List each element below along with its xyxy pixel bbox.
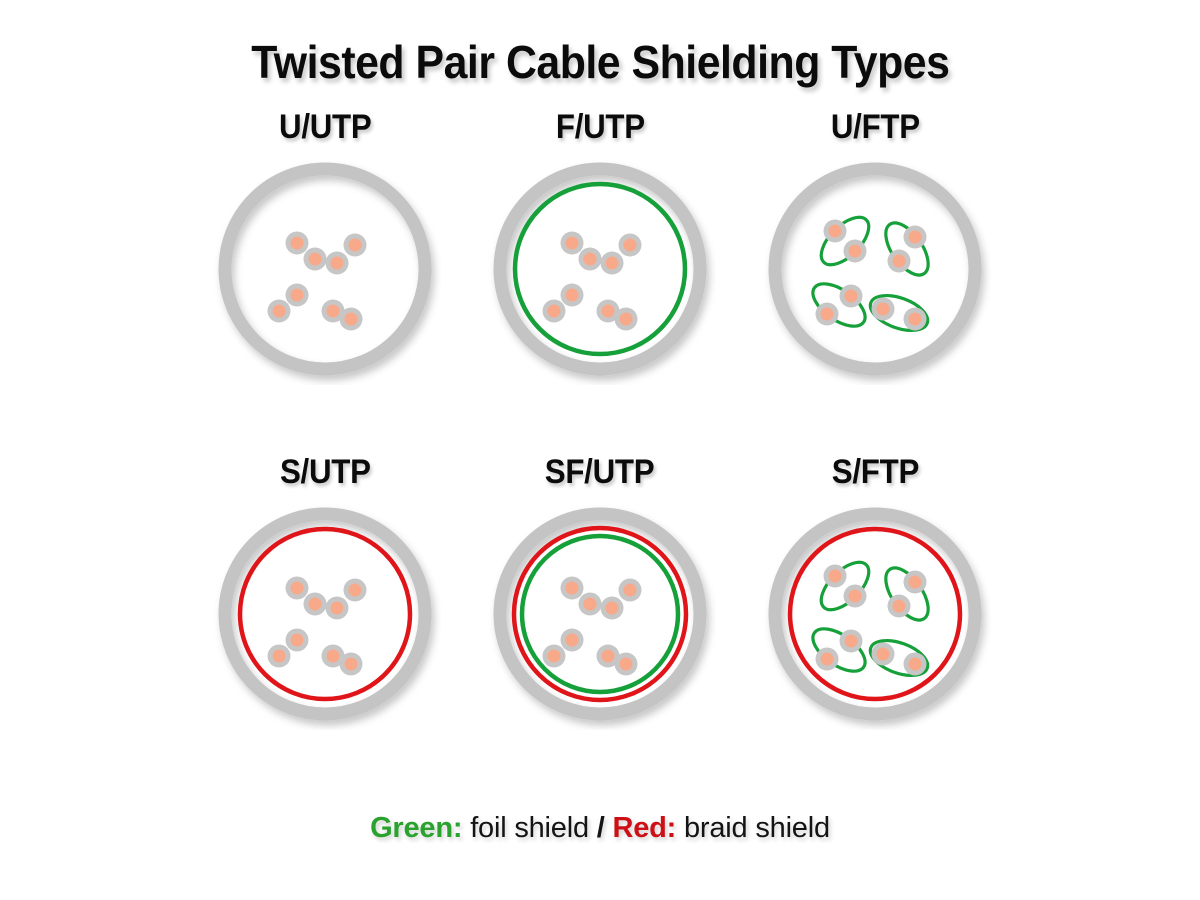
twisted-pair [561,577,602,616]
conductor-core [349,239,362,252]
conductor-core [606,257,619,270]
conductor-core [309,253,322,266]
conductor-core [909,313,922,326]
conductor [579,248,602,271]
conductor [601,597,624,620]
twisted-pair [878,561,937,627]
conductor [286,577,309,600]
legend: Green: foil shield / Red: braid shield [370,812,830,845]
conductor-core [309,598,322,611]
conductor [579,593,602,616]
conductor [904,571,927,594]
overall-braid-shield [790,529,960,699]
conductor-core [909,231,922,244]
cable-jacket [775,169,975,369]
conductor [326,252,349,275]
conductor [619,579,642,602]
twisted-pair [543,284,584,323]
conductor [340,653,363,676]
cable-jacket [500,169,700,369]
conductor-core [349,584,362,597]
twisted-pair [806,621,872,680]
conductor [816,303,839,326]
twisted-pair [268,284,309,323]
cable-jacket [225,514,425,714]
conductor-core [566,289,579,302]
conductor [824,220,847,243]
conductor-core [877,648,890,661]
conductor [904,226,927,249]
twisted-pair [268,629,309,668]
conductor [561,629,584,652]
pair-foil-shield [806,276,872,335]
twisted-pair [326,234,367,275]
conductor-core [829,225,842,238]
conductor [344,234,367,257]
overall-braid-shield [240,529,410,699]
conductor-core [566,237,579,250]
conductor [816,648,839,671]
cable-cell-s-utp: S/UTP [188,453,463,798]
conductor-core [566,582,579,595]
conductor-core [877,303,890,316]
poster: Twisted Pair Cable Shielding Types U/UTP… [0,0,1200,900]
twisted-pair [597,300,638,331]
cable-cell-s-ftp: S/FTP [738,453,1013,798]
conductor-core [291,634,304,647]
cable-jacket [775,514,975,714]
conductor-core [291,582,304,595]
cable-jacket [225,169,425,369]
conductor [840,285,863,308]
cable-cross-section-u-utp [209,153,441,385]
cable-cross-section-s-utp [209,498,441,730]
conductor [326,597,349,620]
twisted-pair [322,300,363,331]
twisted-pair [601,234,642,275]
conductor-core [331,602,344,615]
cable-label-s-ftp: S/FTP [831,453,918,492]
twisted-pair [561,232,602,271]
conductor [543,300,566,323]
twisted-pair [543,629,584,668]
conductor [268,645,291,668]
conductor-core [845,635,858,648]
conductor [286,629,309,652]
conductor-core [327,650,340,663]
pair-foil-shield [878,216,937,282]
cable-cell-u-ftp: U/FTP [738,108,1013,453]
cable-cross-section-s-ftp [759,498,991,730]
conductor-core [566,634,579,647]
pair-foil-shield [813,554,877,618]
twisted-pair [813,554,877,618]
conductor [840,630,863,653]
conductor [844,240,867,263]
cable-cell-u-utp: U/UTP [188,108,463,453]
conductor-core [624,584,637,597]
page-title: Twisted Pair Cable Shielding Types [251,38,949,86]
conductor-core [909,658,922,671]
twisted-pair [866,634,933,683]
cable-label-u-ftp: U/FTP [831,108,920,147]
conductor [872,298,895,321]
twisted-pair [601,579,642,620]
conductor [561,232,584,255]
conductor-core [620,658,633,671]
conductor [286,232,309,255]
conductor [286,284,309,307]
legend-red-text: braid shield [676,812,830,844]
conductor [619,234,642,257]
conductor-core [602,305,615,318]
legend-green-text: foil shield [462,812,596,844]
conductor [561,577,584,600]
conductor-core [548,305,561,318]
pair-foil-shield [878,561,937,627]
twisted-pair [286,577,327,616]
cable-cell-sf-utp: SF/UTP [463,453,738,798]
conductor-core [584,598,597,611]
conductor-core [893,255,906,268]
cable-label-u-utp: U/UTP [279,108,371,147]
twisted-pair [806,276,872,335]
conductor [344,579,367,602]
cable-label-f-utp: F/UTP [556,108,645,147]
cable-cross-section-f-utp [484,153,716,385]
pair-foil-shield [806,621,872,680]
cable-cross-section-sf-utp [484,498,716,730]
overall-foil-shield [522,536,678,692]
conductor-core [345,658,358,671]
conductor-core [620,313,633,326]
twisted-pair [286,232,327,271]
twisted-pair [322,645,363,676]
conductor [888,250,911,273]
cable-label-sf-utp: SF/UTP [545,453,655,492]
cable-label-s-utp: S/UTP [280,453,371,492]
conductor-core [584,253,597,266]
conductor [601,252,624,275]
cable-cross-section-u-ftp [759,153,991,385]
conductor-core [327,305,340,318]
conductor [615,653,638,676]
legend-separator: / [597,812,605,844]
conductor-core [849,245,862,258]
conductor-core [345,313,358,326]
conductor-core [606,602,619,615]
conductor-core [821,308,834,321]
conductor-core [291,289,304,302]
conductor-core [273,650,286,663]
conductor-core [821,653,834,666]
conductor-core [849,590,862,603]
conductor [904,653,927,676]
conductor-core [548,650,561,663]
cable-grid: U/UTPF/UTPU/FTPS/UTPSF/UTPS/FTP [188,108,1013,798]
conductor [615,308,638,331]
conductor-core [909,576,922,589]
overall-foil-shield [515,184,685,354]
conductor-core [273,305,286,318]
conductor-core [845,290,858,303]
conductor [844,585,867,608]
conductor-core [624,239,637,252]
conductor [904,308,927,331]
conductor [543,645,566,668]
twisted-pair [878,216,937,282]
legend-green-key: Green: [370,812,462,844]
conductor-core [829,570,842,583]
twisted-pair [326,579,367,620]
conductor-core [602,650,615,663]
conductor [304,248,327,271]
pair-foil-shield [813,209,877,273]
conductor [304,593,327,616]
conductor [561,284,584,307]
conductor-core [331,257,344,270]
conductor-core [291,237,304,250]
overall-braid-shield [514,528,686,700]
cable-jacket [500,514,700,714]
legend-red-key: Red: [605,812,677,844]
conductor-core [893,600,906,613]
twisted-pair [813,209,877,273]
conductor [268,300,291,323]
cable-cell-f-utp: F/UTP [463,108,738,453]
twisted-pair [597,645,638,676]
conductor [340,308,363,331]
conductor [888,595,911,618]
twisted-pair [866,289,933,338]
conductor [872,643,895,666]
conductor [824,565,847,588]
